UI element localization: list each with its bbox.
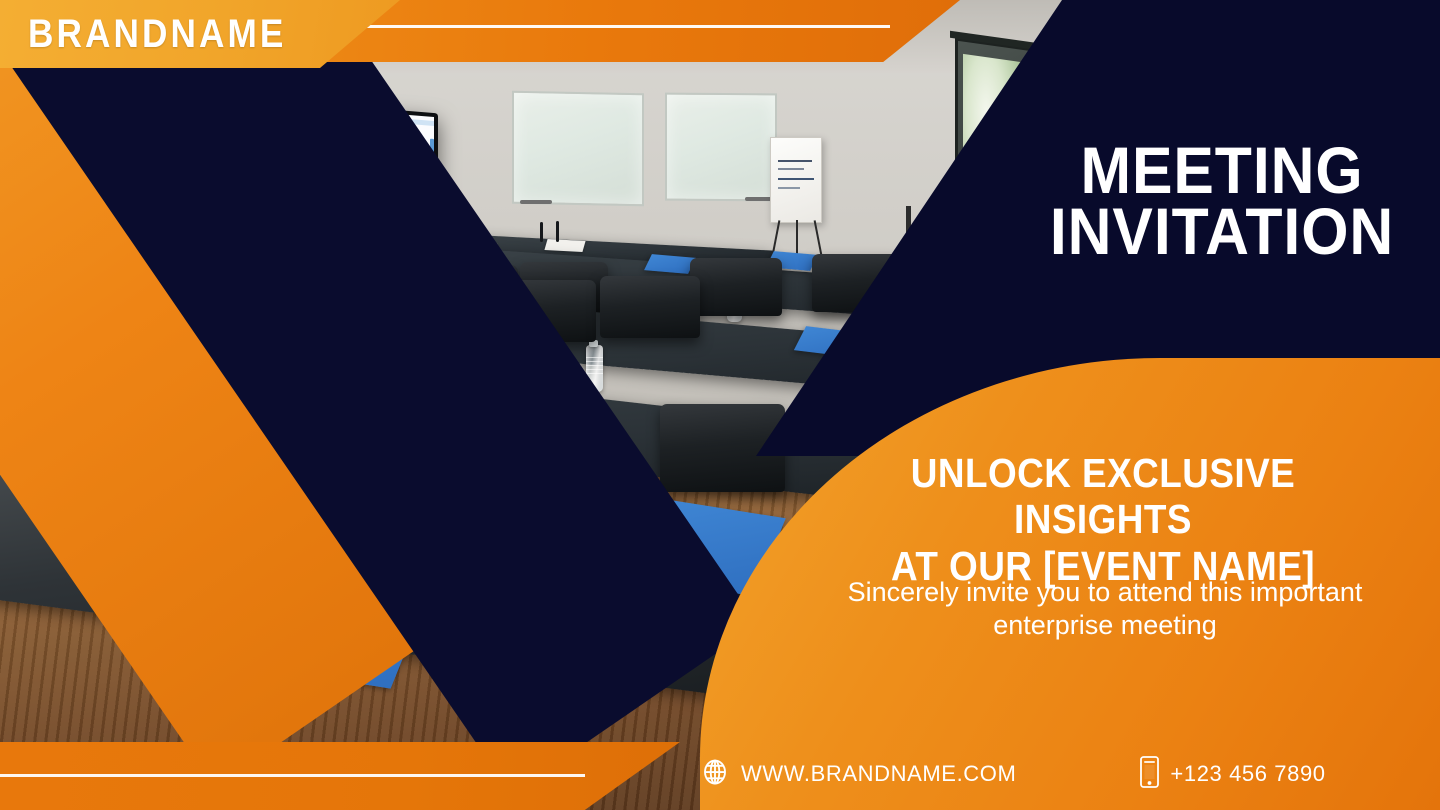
- website-label: WWW.BRANDNAME.COM: [741, 761, 1016, 787]
- brand-name: BRANDNAME: [28, 12, 286, 57]
- globe-icon: [700, 757, 730, 792]
- chair: [690, 258, 782, 316]
- subtitle-line-1: Sincerely invite you to attend this impo…: [848, 577, 1363, 607]
- mobile-phone-icon: [1140, 756, 1159, 793]
- subtitle-line-2: enterprise meeting: [993, 610, 1217, 640]
- footer-contacts: WWW.BRANDNAME.COM +123 456 7890: [690, 738, 1440, 810]
- marker-tray: [745, 197, 773, 201]
- whiteboard: [139, 94, 201, 201]
- whiteboard: [512, 91, 644, 207]
- name-card: [544, 239, 585, 252]
- water-bottle: [386, 250, 401, 292]
- page-title: MEETING INVITATION: [1022, 140, 1422, 263]
- phone-label: +123 456 7890: [1170, 761, 1325, 787]
- invitation-poster: BRANDNAME MEETING INVITATION UNLOCK EXCL…: [0, 0, 1440, 810]
- water-bottle: [586, 345, 603, 392]
- microphone: [540, 222, 543, 242]
- whiteboard: [665, 93, 777, 202]
- marker-tray: [520, 200, 552, 204]
- website-contact[interactable]: WWW.BRANDNAME.COM: [700, 757, 1016, 792]
- dashboard-screen: [210, 99, 434, 227]
- webcam: [300, 90, 330, 101]
- headline-line-1: UNLOCK EXCLUSIVE INSIGHTS: [821, 450, 1384, 543]
- headline: UNLOCK EXCLUSIVE INSIGHTS AT OUR [EVENT …: [790, 450, 1416, 589]
- title-line-1: MEETING: [1038, 140, 1406, 201]
- presentation-screen: [206, 95, 438, 232]
- marker-tray: [150, 196, 178, 200]
- microphone: [556, 221, 559, 242]
- phone-contact[interactable]: +123 456 7890: [1140, 756, 1325, 793]
- chair: [600, 276, 700, 338]
- flipchart: [770, 137, 822, 223]
- bottom-white-rule: [0, 774, 585, 777]
- subtitle: Sincerely invite you to attend this impo…: [800, 576, 1410, 643]
- water-bottle: [238, 487, 262, 555]
- chair: [496, 280, 596, 342]
- title-line-2: INVITATION: [1038, 201, 1406, 262]
